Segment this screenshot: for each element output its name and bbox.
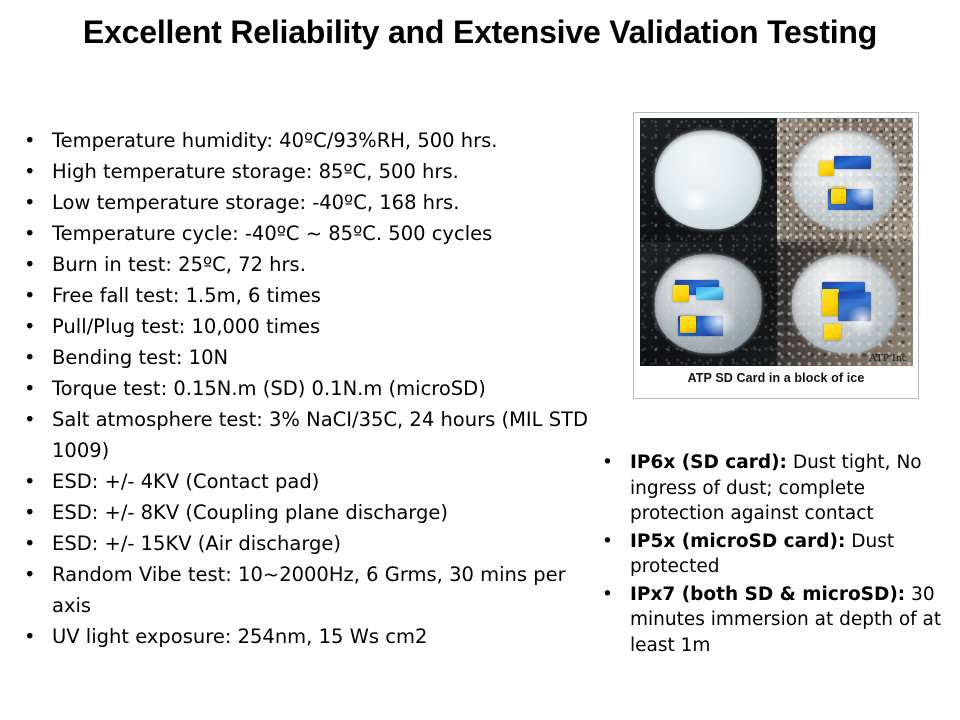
sd-card-cyan	[696, 287, 723, 301]
bullet-icon: •	[24, 373, 36, 404]
list-item: •ESD: +/- 8KV (Coupling plane discharge)	[18, 497, 603, 528]
ice-block-shape	[655, 254, 761, 353]
list-item-label: Free fall test: 1.5m, 6 times	[52, 284, 321, 307]
list-item-label: Low temperature storage: -40ºC, 168 hrs.	[52, 191, 459, 214]
list-item: •IPx7 (both SD & microSD): 30 minutes im…	[598, 582, 950, 659]
list-item: •UV light exposure: 254nm, 15 Ws cm2	[18, 621, 603, 652]
list-item: •Temperature cycle: -40ºC ~ 85ºC. 500 cy…	[18, 218, 603, 249]
ice-test-photo-panel: ATP Inc ATP SD Card in a block of ice	[633, 112, 919, 399]
list-item-label: Bending test: 10N	[52, 346, 228, 369]
photo-watermark: ATP Inc	[869, 352, 907, 364]
sd-card-yellow	[831, 189, 846, 204]
list-item-label: Pull/Plug test: 10,000 times	[52, 315, 320, 338]
bullet-icon: •	[24, 125, 36, 156]
photo-ice-block-cards-dark-ground	[640, 242, 777, 366]
sd-card-yellow	[822, 289, 840, 316]
list-item: •Torque test: 0.15N.m (SD) 0.1N.m (micro…	[18, 373, 603, 404]
list-item: •Bending test: 10N	[18, 342, 603, 373]
ip-rating-label: IP5x (microSD card):	[630, 531, 845, 552]
list-item-label: Random Vibe test: 10~2000Hz, 6 Grms, 30 …	[52, 563, 566, 617]
sd-card-yellow	[824, 324, 840, 340]
bullet-icon: •	[602, 582, 613, 608]
bullet-icon: •	[24, 342, 36, 373]
bullet-icon: •	[602, 450, 613, 476]
list-item: •High temperature storage: 85ºC, 500 hrs…	[18, 156, 603, 187]
list-item-label: High temperature storage: 85ºC, 500 hrs.	[52, 160, 459, 183]
sd-card-blue	[838, 292, 871, 322]
list-item: •Burn in test: 25ºC, 72 hrs.	[18, 249, 603, 280]
list-item-label: ESD: +/- 15KV (Air discharge)	[52, 532, 341, 555]
list-item-label: ESD: +/- 4KV (Contact pad)	[52, 470, 319, 493]
bullet-icon: •	[24, 559, 36, 590]
bullet-icon: •	[24, 404, 36, 435]
list-item: •Low temperature storage: -40ºC, 168 hrs…	[18, 187, 603, 218]
sd-card-yellow	[819, 161, 834, 176]
list-item: •Free fall test: 1.5m, 6 times	[18, 280, 603, 311]
bullet-icon: •	[24, 497, 36, 528]
bullet-icon: •	[24, 621, 36, 652]
list-item-label: Temperature cycle: -40ºC ~ 85ºC. 500 cyc…	[52, 222, 492, 245]
sd-card-blue	[834, 156, 871, 168]
ip-rating-list: •IP6x (SD card): Dust tight, No ingress …	[598, 450, 950, 660]
list-item: •Random Vibe test: 10~2000Hz, 6 Grms, 30…	[18, 559, 603, 621]
list-item: •IP6x (SD card): Dust tight, No ingress …	[598, 450, 950, 527]
list-item-label: UV light exposure: 254nm, 15 Ws cm2	[52, 625, 427, 648]
list-item-label: Torque test: 0.15N.m (SD) 0.1N.m (microS…	[52, 377, 486, 400]
photo-caption: ATP SD Card in a block of ice	[634, 371, 918, 385]
photo-grid: ATP Inc	[640, 118, 913, 366]
photo-ice-block-cards-gravel	[777, 118, 914, 242]
photo-ice-block-opaque-dark-ground	[640, 118, 777, 242]
bullet-icon: •	[24, 249, 36, 280]
bullet-icon: •	[24, 156, 36, 187]
bullet-icon: •	[24, 187, 36, 218]
list-item: •Salt atmosphere test: 3% NaCI/35C, 24 h…	[18, 404, 603, 466]
bullet-icon: •	[24, 528, 36, 559]
list-item-label: ESD: +/- 8KV (Coupling plane discharge)	[52, 501, 448, 524]
bullet-icon: •	[24, 218, 36, 249]
list-item: •Pull/Plug test: 10,000 times	[18, 311, 603, 342]
list-item-label: Burn in test: 25ºC, 72 hrs.	[52, 253, 306, 276]
list-item: •Temperature humidity: 40ºC/93%RH, 500 h…	[18, 125, 603, 156]
list-item-label: Temperature humidity: 40ºC/93%RH, 500 hr…	[52, 129, 497, 152]
photo-ice-block-cards-gravel-2: ATP Inc	[777, 242, 914, 366]
list-item: •IP5x (microSD card): Dust protected	[598, 529, 950, 580]
bullet-icon: •	[24, 311, 36, 342]
list-item-label: Salt atmosphere test: 3% NaCI/35C, 24 ho…	[52, 408, 588, 462]
page-title: Excellent Reliability and Extensive Vali…	[0, 14, 960, 51]
list-item: •ESD: +/- 4KV (Contact pad)	[18, 466, 603, 497]
validation-test-list: •Temperature humidity: 40ºC/93%RH, 500 h…	[18, 125, 603, 652]
slide-canvas: Excellent Reliability and Extensive Vali…	[0, 0, 960, 720]
bullet-icon: •	[24, 466, 36, 497]
ip-rating-label: IP6x (SD card):	[630, 452, 787, 473]
bullet-icon: •	[602, 529, 613, 555]
bullet-icon: •	[24, 280, 36, 311]
ice-block-shape	[655, 130, 761, 229]
sd-card-yellow	[680, 316, 696, 332]
ip-rating-label: IPx7 (both SD & microSD):	[630, 584, 905, 605]
ice-block-shape	[792, 130, 898, 229]
list-item: •ESD: +/- 15KV (Air discharge)	[18, 528, 603, 559]
sd-card-yellow	[673, 285, 689, 301]
